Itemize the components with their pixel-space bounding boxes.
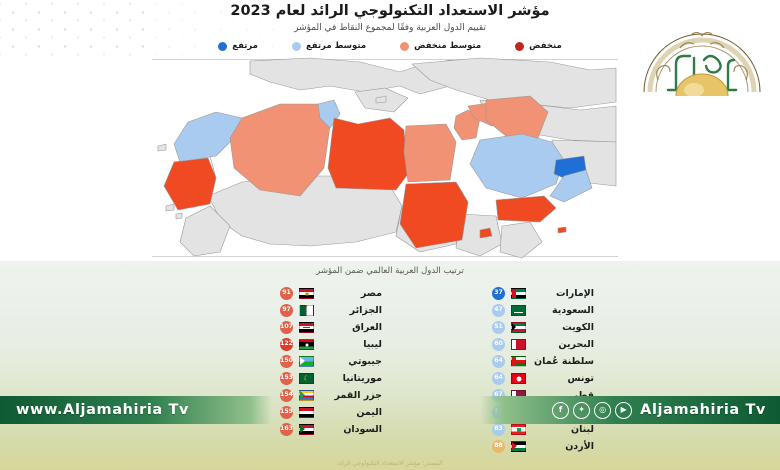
country-flag-icon [299,424,314,435]
social-links[interactable]: f✦◎▶ [552,402,632,419]
rank-badge: 88 [492,440,505,453]
map-svg [150,56,620,261]
country-name: العراق [320,322,382,333]
country-flag-icon [299,322,314,333]
map-left-margin [0,56,152,261]
country-name: الكويت [532,322,594,333]
legend-dot-icon [292,42,301,51]
country-name: ليبيا [320,339,382,350]
arab-world-map [150,56,620,261]
rank-badge: 122 [280,338,293,351]
rank-badge: 64 [492,372,505,385]
country-flag-icon [511,322,526,333]
legend-label: متوسط مرتفع [306,41,366,51]
aljamahiria-logo-icon [632,10,772,96]
rank-badge: 150 [280,355,293,368]
ranking-row: 154جزر القمر [280,388,382,403]
country-name: اليمن [320,407,382,418]
country-flag-icon [299,373,314,384]
ranking-column-left: 91مصر97الجزائر107العراق122ليبيا150جيبوتي… [280,286,382,437]
ranking-row: 47السعودية [492,303,594,318]
ranking-row: 150جيبوتي [280,354,382,369]
rank-badge: 159 [280,406,293,419]
ranking-column-right: 37الإمارات47السعودية51الكويت60البحرين64س… [492,286,594,454]
country-flag-icon [511,288,526,299]
ranking-row: 107العراق [280,320,382,335]
infographic-root: مؤشر الاستعداد التكنولوجي الرائد لعام 20… [0,0,780,470]
instagram-icon[interactable]: ◎ [594,402,611,419]
country-flag-icon [299,339,314,350]
rank-badge: 60 [492,338,505,351]
country-flag-icon [299,390,314,401]
rank-badge: 37 [492,287,505,300]
country-name: الأردن [532,441,594,452]
rank-badge: 154 [280,389,293,402]
rank-badge: 153 [280,372,293,385]
ranking-row: 64سلطنة عُمان [492,354,594,369]
ranking-row: 60البحرين [492,337,594,352]
legend-label: متوسط منخفض [414,41,481,51]
rank-badge: 51 [492,321,505,334]
country-flag-icon [299,407,314,418]
rank-badge: 91 [280,287,293,300]
legend-item-upper-middle: متوسط مرتفع [292,41,366,51]
ranking-row: 51الكويت [492,320,594,335]
channel-bar: f✦◎▶ Aljamahiria Tv [480,396,780,424]
ranking-caption: ترتيب الدول العربية العالمي ضمن المؤشر [0,266,780,276]
country-name: لبنان [532,424,594,435]
website-bar: www.Aljamahiria Tv [0,396,272,424]
ranking-row: 83لبنان [492,422,594,437]
legend-item-high: مرتفع [218,41,258,51]
country-flag-icon [511,305,526,316]
rank-badge: 97 [280,304,293,317]
channel-name: Aljamahiria Tv [640,402,766,418]
rank-badge: 83 [492,423,505,436]
country-name: مصر [320,288,382,299]
country-flag-icon [511,373,526,384]
legend-item-low: منخفض [515,41,562,51]
country-name: الجزائر [320,305,382,316]
ranking-row: 64تونس [492,371,594,386]
ranking-row: 88الأردن [492,439,594,454]
ranking-columns: 37الإمارات47السعودية51الكويت60البحرين64س… [0,286,780,456]
legend-item-lower-middle: متوسط منخفض [400,41,481,51]
country-name: السعودية [532,305,594,316]
source-note: المصدر: مؤشر الاستعداد التكنولوجي الرائد [0,460,780,467]
legend-dot-icon [218,42,227,51]
country-name: موريتانيا [320,373,382,384]
ranking-row: 97الجزائر [280,303,382,318]
country-name: الإمارات [532,288,594,299]
rank-badge: 163 [280,423,293,436]
country-flag-icon [511,424,526,435]
country-flag-icon [299,288,314,299]
rank-badge: 47 [492,304,505,317]
country-flag-icon [511,339,526,350]
rank-badge: 107 [280,321,293,334]
country-name: السودان [320,424,382,435]
country-name: البحرين [532,339,594,350]
country-flag-icon [299,356,314,367]
legend-dot-icon [515,42,524,51]
legend-dot-icon [400,42,409,51]
ranking-row: 91مصر [280,286,382,301]
ranking-row: 163السودان [280,422,382,437]
facebook-icon[interactable]: f [552,402,569,419]
youtube-icon[interactable]: ▶ [615,402,632,419]
ranking-row: 153موريتانيا [280,371,382,386]
rank-badge: 64 [492,355,505,368]
country-name: جيبوتي [320,356,382,367]
legend-label: مرتفع [232,41,258,51]
country-flag-icon [511,356,526,367]
ranking-row: 159اليمن [280,405,382,420]
legend-label: منخفض [529,41,562,51]
website-url: www.Aljamahiria Tv [16,402,189,418]
country-flag-icon [511,441,526,452]
ranking-row: 37الإمارات [492,286,594,301]
ranking-row: 122ليبيا [280,337,382,352]
country-name: سلطنة عُمان [532,356,594,367]
country-flag-icon [299,305,314,316]
twitter-icon[interactable]: ✦ [573,402,590,419]
country-name: جزر القمر [320,390,382,401]
country-name: تونس [532,373,594,384]
